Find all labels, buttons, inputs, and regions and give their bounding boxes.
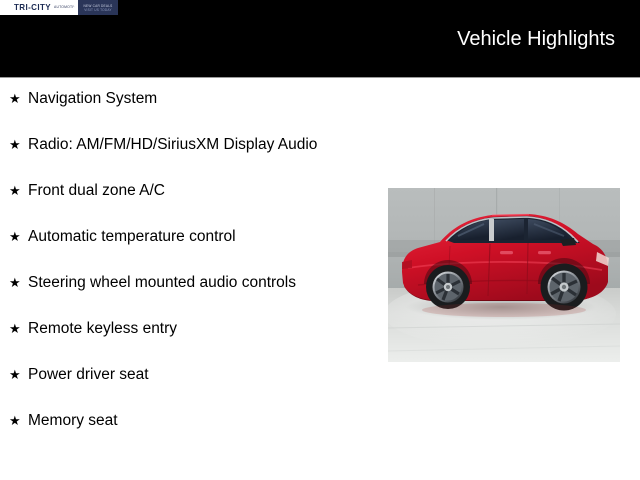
list-item: ★ Front dual zone A/C xyxy=(0,180,372,201)
list-item-label: Remote keyless entry xyxy=(28,318,372,339)
list-item: ★ Remote keyless entry xyxy=(0,318,372,339)
list-item: ★ Automatic temperature control xyxy=(0,226,372,247)
star-bullet-icon: ★ xyxy=(9,364,28,385)
dealer-logo-name: TRI-CITY xyxy=(14,3,51,12)
star-bullet-icon: ★ xyxy=(9,226,28,247)
badge-line-2: VISIT US TODAY xyxy=(84,8,112,12)
page-header: TRI-CITY AUTOMOTIVE GROUP NEW CAR DEALS … xyxy=(0,0,640,77)
list-item: ★ Memory seat xyxy=(0,410,372,431)
vehicle-highlights-list: ★ Navigation System ★ Radio: AM/FM/HD/Si… xyxy=(0,88,372,456)
dealer-logo-badge: NEW CAR DEALS VISIT US TODAY xyxy=(78,0,118,15)
list-item-label: Automatic temperature control xyxy=(28,226,372,247)
star-bullet-icon: ★ xyxy=(9,180,28,201)
star-bullet-icon: ★ xyxy=(9,410,28,431)
list-item: ★ Navigation System xyxy=(0,88,372,109)
list-item: ★ Steering wheel mounted audio controls xyxy=(0,272,372,293)
list-item-label: Power driver seat xyxy=(28,364,372,385)
list-item-label: Memory seat xyxy=(28,410,372,431)
page-title: Vehicle Highlights xyxy=(457,28,615,51)
list-item-label: Navigation System xyxy=(28,88,372,109)
dealer-logo[interactable]: TRI-CITY AUTOMOTIVE GROUP NEW CAR DEALS … xyxy=(0,0,118,15)
star-bullet-icon: ★ xyxy=(9,272,28,293)
list-item-label: Front dual zone A/C xyxy=(28,180,372,201)
list-item: ★ Radio: AM/FM/HD/SiriusXM Display Audio xyxy=(0,134,372,155)
star-bullet-icon: ★ xyxy=(9,134,28,155)
list-item-label: Radio: AM/FM/HD/SiriusXM Display Audio xyxy=(28,134,372,155)
list-item-label: Steering wheel mounted audio controls xyxy=(28,272,372,293)
star-bullet-icon: ★ xyxy=(9,88,28,109)
list-item: ★ Power driver seat xyxy=(0,364,372,385)
star-bullet-icon: ★ xyxy=(9,318,28,339)
vehicle-photo xyxy=(388,188,620,362)
header-divider xyxy=(0,77,640,78)
